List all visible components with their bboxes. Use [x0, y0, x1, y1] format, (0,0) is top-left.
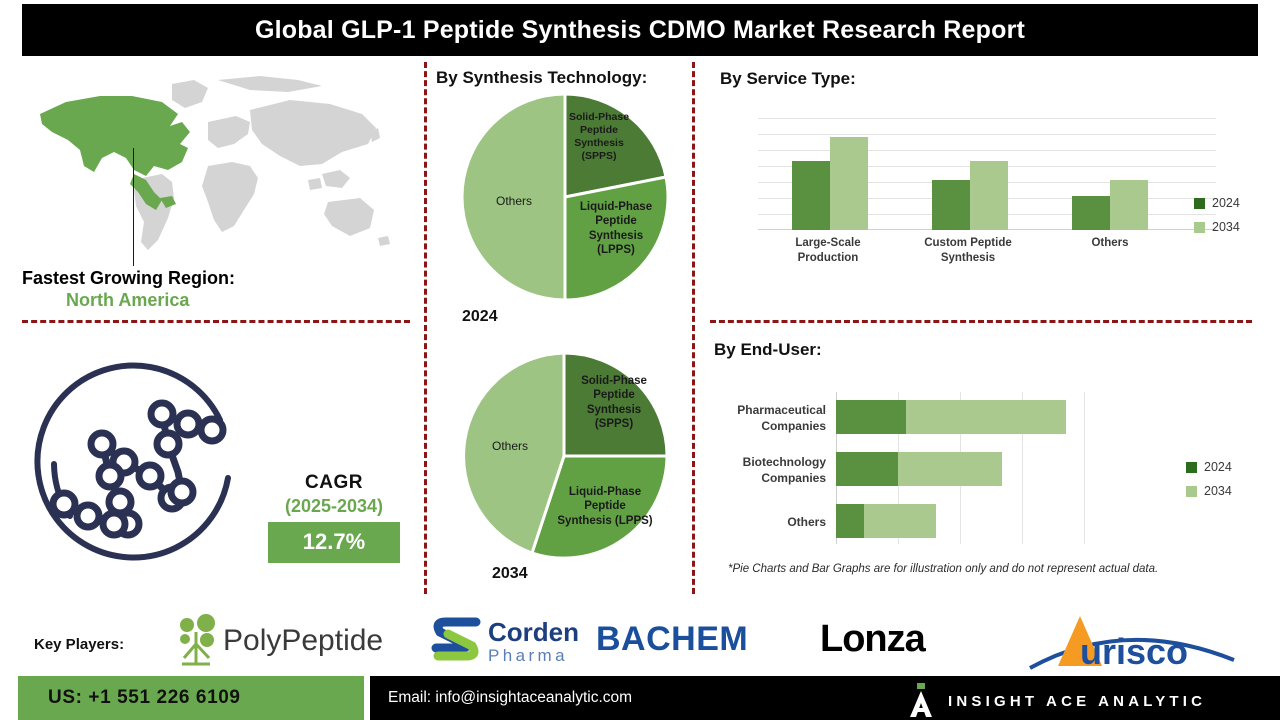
service-type-chart	[758, 118, 1216, 230]
brand-name: INSIGHT ACE ANALYTIC	[948, 693, 1206, 710]
legend-label-2024: 2024	[1212, 196, 1240, 210]
section-title-synthesis-technology: By Synthesis Technology:	[436, 68, 647, 88]
phone-bar: US: +1 551 226 6109	[18, 676, 364, 720]
gridline	[758, 150, 1216, 151]
ecat-bt-line2: Companies	[676, 470, 826, 486]
pie-chart-2024	[460, 92, 670, 302]
logo-lonza: Lonza	[820, 618, 925, 661]
insight-ace-logo-icon	[908, 683, 934, 719]
logo-aurisco: urisco	[1024, 610, 1240, 674]
chart-disclaimer: *Pie Charts and Bar Graphs are for illus…	[728, 563, 1158, 575]
section-title-service-type: By Service Type:	[720, 69, 856, 89]
hbar-others-2034	[864, 504, 936, 538]
legend-item-2024: 2024	[1186, 460, 1232, 474]
divider-vertical-left	[424, 62, 427, 594]
hbar-others	[836, 504, 936, 538]
logo-polypeptide: PolyPeptide	[176, 614, 383, 668]
fastest-region-label: Fastest Growing Region:	[22, 268, 235, 289]
email-bar: Email: info@insightaceanalytic.com INSIG…	[370, 676, 1280, 720]
bar-large-scale-2024	[792, 161, 830, 230]
hbar-pharmaceutical	[836, 400, 1066, 434]
legend-label-2034: 2034	[1212, 220, 1240, 234]
logo-corden-pharma: Corden Pharma	[430, 616, 579, 666]
bar-large-scale-2034	[830, 137, 868, 230]
logo-bachem: BACHEM	[596, 620, 748, 659]
logo-corden-line1: Corden	[488, 619, 579, 645]
world-map	[22, 70, 408, 260]
category-label-others: Others	[1040, 236, 1180, 251]
category-label-custom-peptide: Custom Peptide Synthesis	[898, 236, 1038, 266]
legend-swatch-2034	[1194, 222, 1205, 233]
category-label-pharmaceutical: Pharmaceutical Companies	[676, 402, 826, 434]
legend-swatch-2024	[1186, 462, 1197, 473]
svg-text:urisco: urisco	[1080, 631, 1188, 672]
category-label-end-user-others: Others	[676, 514, 826, 530]
ecat-ph-line1: Pharmaceutical	[676, 402, 826, 418]
legend-label-2024: 2024	[1204, 460, 1232, 474]
hbar-pharmaceutical-2034	[906, 400, 1066, 434]
pie-2034-year: 2034	[492, 565, 528, 583]
logo-corden-line2: Pharma	[488, 647, 579, 664]
hbar-biotechnology-2024	[836, 452, 898, 486]
hbar-biotechnology	[836, 452, 1002, 486]
phone-number: US: +1 551 226 6109	[18, 687, 241, 709]
legend-item-2024: 2024	[1194, 196, 1240, 210]
legend-swatch-2034	[1186, 486, 1197, 497]
bar-others-2034	[1110, 180, 1148, 230]
cat-ls-line1: Large-Scale	[758, 236, 898, 251]
peptide-chain-icon	[32, 352, 252, 572]
ecat-bt-line1: Biotechnology	[676, 454, 826, 470]
category-label-large-scale: Large-Scale Production	[758, 236, 898, 266]
cagr-title: CAGR	[268, 472, 400, 494]
cat-ls-line2: Production	[758, 251, 898, 266]
cat-cp-line2: Synthesis	[898, 251, 1038, 266]
cagr-period: (2025-2034)	[268, 496, 400, 517]
logo-polypeptide-text: PolyPeptide	[223, 624, 383, 658]
key-players-label: Key Players:	[34, 636, 124, 653]
hbar-biotechnology-2034	[898, 452, 1002, 486]
pie-2024-year: 2024	[462, 308, 498, 326]
infographic-root: Global GLP-1 Peptide Synthesis CDMO Mark…	[0, 0, 1280, 720]
logo-bachem-text: BACHEM	[596, 620, 748, 659]
corden-mark	[430, 616, 482, 666]
map-leader-line	[133, 148, 134, 266]
ecat-ph-line2: Companies	[676, 418, 826, 434]
gridline	[758, 118, 1216, 119]
cat-ot-line1: Others	[1040, 236, 1180, 251]
hbar-others-2024	[836, 504, 864, 538]
bar-others-2024	[1072, 196, 1110, 230]
gridline	[1084, 392, 1085, 544]
page-title: Global GLP-1 Peptide Synthesis CDMO Mark…	[255, 16, 1025, 45]
ecat-ot-line1: Others	[676, 514, 826, 530]
legend-end-user: 2024 2034	[1186, 460, 1232, 508]
legend-label-2034: 2034	[1204, 484, 1232, 498]
legend-item-2034: 2034	[1186, 484, 1232, 498]
pie-chart-2034	[458, 350, 670, 562]
email-address: Email: info@insightaceanalytic.com	[370, 689, 632, 707]
polypeptide-mark	[176, 614, 218, 668]
legend-service-type: 2024 2034	[1194, 196, 1240, 244]
cagr-block: CAGR (2025-2034) 12.7%	[268, 472, 400, 563]
bar-custom-peptide-2024	[932, 180, 970, 230]
brand-lockup: INSIGHT ACE ANALYTIC	[908, 683, 1206, 719]
logo-lonza-text: Lonza	[820, 618, 925, 661]
end-user-chart	[836, 392, 1086, 544]
section-title-end-user: By End-User:	[714, 340, 822, 360]
cat-cp-line1: Custom Peptide	[898, 236, 1038, 251]
gridline	[758, 134, 1216, 135]
hbar-pharmaceutical-2024	[836, 400, 906, 434]
fastest-region-value: North America	[66, 290, 189, 311]
aurisco-mark: urisco	[1024, 610, 1240, 674]
legend-swatch-2024	[1194, 198, 1205, 209]
divider-horizontal-right	[710, 320, 1252, 323]
legend-item-2034: 2034	[1194, 220, 1240, 234]
divider-horizontal-left	[22, 320, 410, 323]
cagr-value: 12.7%	[268, 522, 400, 563]
category-label-biotechnology: Biotechnology Companies	[676, 454, 826, 486]
header-bar: Global GLP-1 Peptide Synthesis CDMO Mark…	[22, 4, 1258, 56]
bar-custom-peptide-2034	[970, 161, 1008, 230]
